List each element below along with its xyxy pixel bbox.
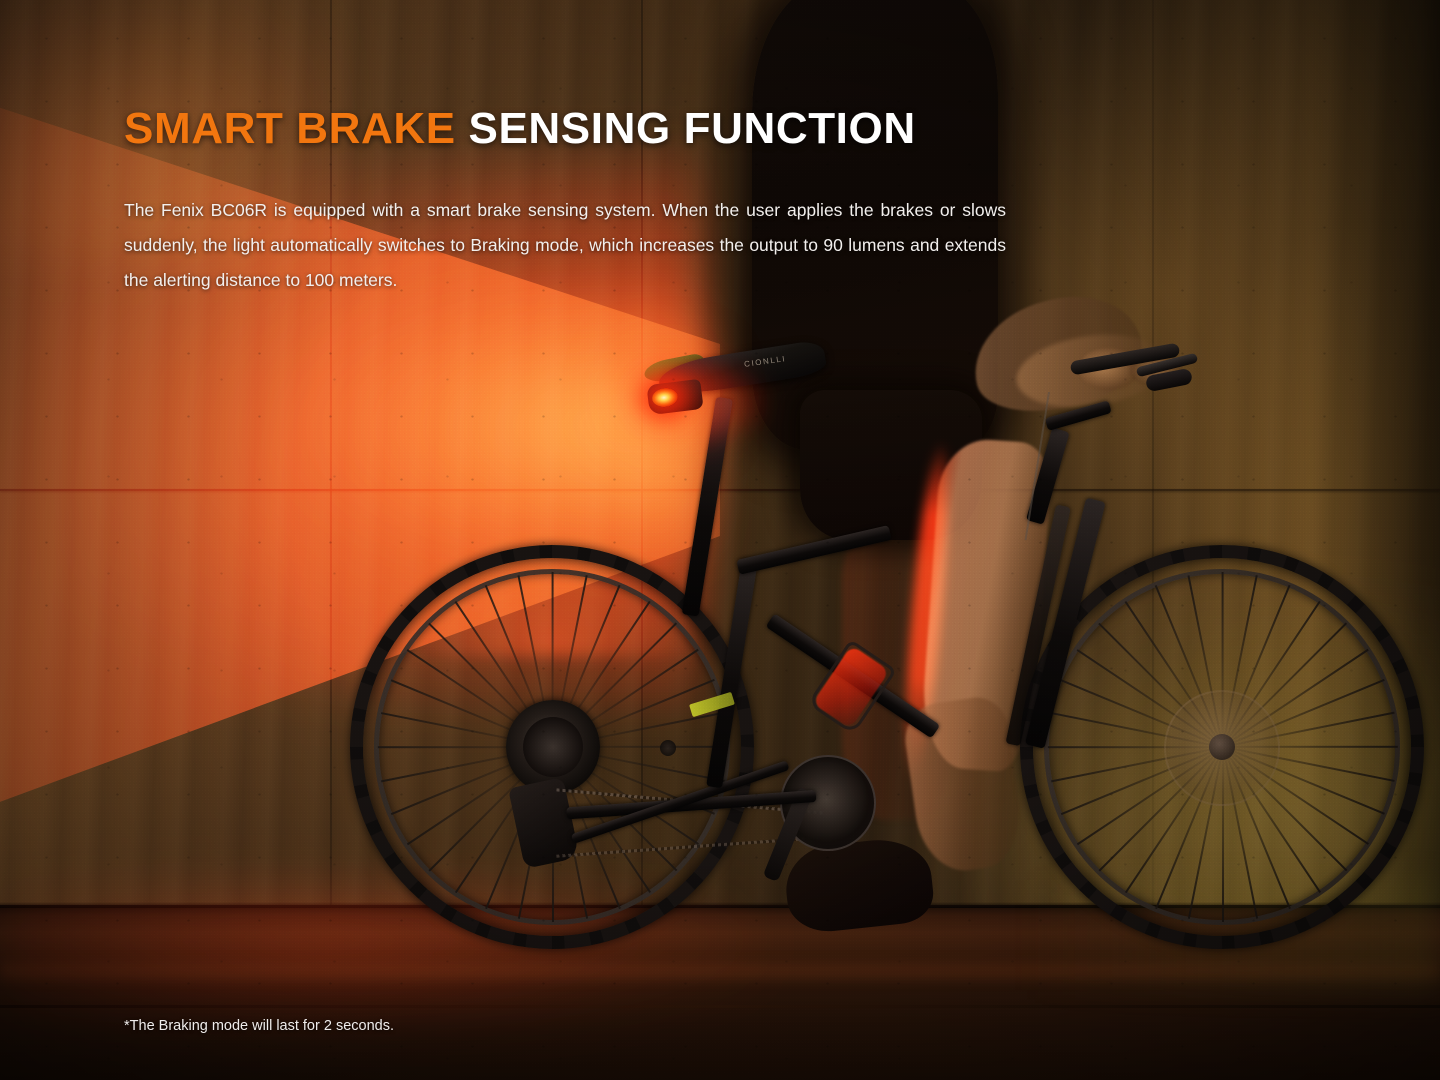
photo-grain-overlay — [0, 0, 1440, 1080]
page-title: SMART BRAKE SENSING FUNCTION — [124, 107, 916, 151]
footnote-disclaimer: *The Braking mode will last for 2 second… — [124, 1018, 394, 1034]
feature-description-text: The Fenix BC06R is equipped with a smart… — [124, 200, 1006, 290]
feature-description: The Fenix BC06R is equipped with a smart… — [124, 193, 1006, 298]
page-title-accent: SMART BRAKE — [124, 104, 456, 153]
product-feature-poster: CIONLLI SMART BRAKE SENSING FUNCTION The… — [0, 0, 1440, 1080]
page-title-plain: SENSING FUNCTION — [456, 104, 916, 153]
